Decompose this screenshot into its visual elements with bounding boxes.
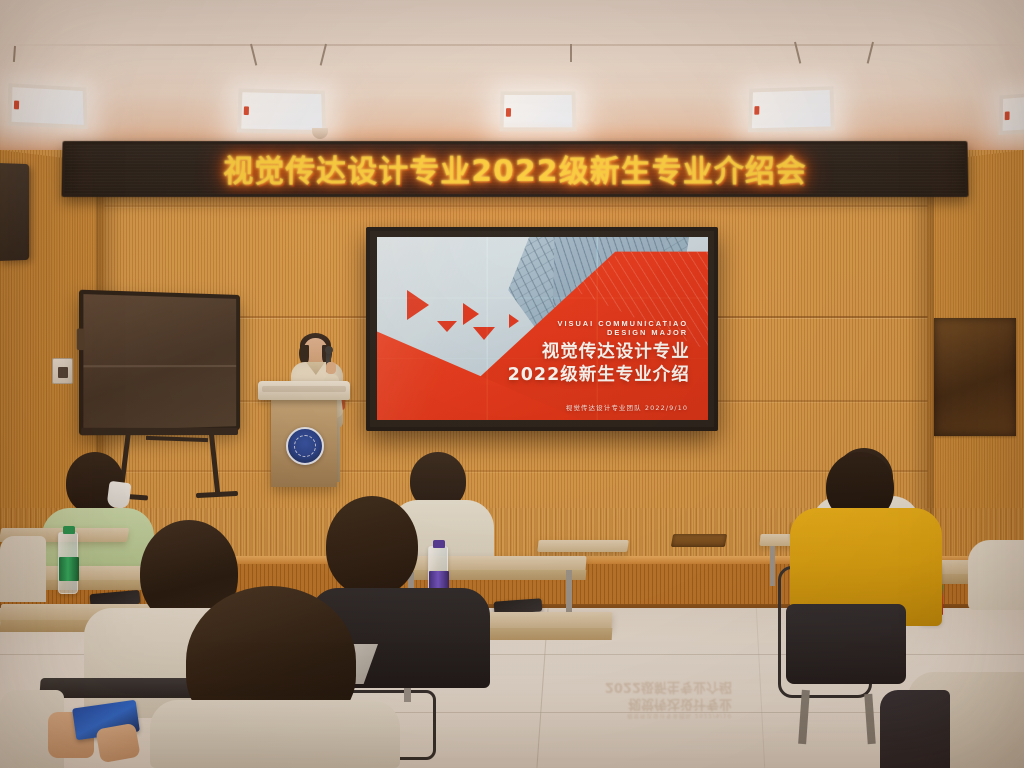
floor-outlet-panel <box>671 534 727 547</box>
triangle-motif-icon <box>509 314 519 328</box>
triangle-motif-icon <box>407 290 429 320</box>
reflection-line1: 视觉传达设计专业 <box>556 694 732 711</box>
audience-torso <box>968 540 1024 610</box>
wall-panel-seam <box>0 205 1024 207</box>
audience-lower-body <box>786 604 906 684</box>
floor-reflection-text: 视觉传达设计专业团队 2022/9/10 视觉传达设计专业 2022级新生专业介… <box>556 632 732 718</box>
triangle-motif-icon <box>437 321 457 332</box>
ceiling-light-panel <box>999 91 1024 135</box>
podium-lectern-top <box>258 381 350 400</box>
slide-english-line2: DESIGN MAJOR <box>558 328 689 337</box>
slide-english-line1: VISUAI COMMUNICATIAO <box>558 319 689 328</box>
tv-handle <box>77 328 85 350</box>
reflection-line2: 2022级新生专业介绍 <box>556 677 732 694</box>
ceiling <box>0 0 1024 152</box>
audience-torso <box>150 700 400 768</box>
wall-window <box>934 318 1016 436</box>
ceiling-light-panel <box>7 83 87 129</box>
desk <box>537 540 629 552</box>
presentation-slide: VISUAI COMMUNICATIAO DESIGN MAJOR 视觉传达设计… <box>377 237 708 420</box>
wall-switch-plate[interactable] <box>52 358 73 384</box>
ceiling-hook-icon <box>570 44 572 62</box>
ceiling-hook-icon <box>320 44 327 66</box>
floor-tile-seam <box>756 608 765 768</box>
ceiling-hook-icon <box>250 44 257 66</box>
ceiling-seam-lower <box>0 138 1024 140</box>
tv-display[interactable] <box>79 290 240 436</box>
led-banner: 视觉传达设计专业2022级新生专业介绍会 <box>61 141 968 197</box>
triangle-motif-icon <box>473 327 495 340</box>
audience-bag <box>880 690 950 768</box>
slide-english-subtitle: VISUAI COMMUNICATIAO DESIGN MAJOR <box>558 319 689 337</box>
slide-credit-line: 视觉传达设计专业团队 2022/9/10 <box>566 402 688 412</box>
audience-hand <box>95 723 140 763</box>
water-bottle <box>58 532 78 594</box>
audience-head <box>326 496 418 596</box>
podium-emblem <box>286 427 324 465</box>
ceiling-light-panel <box>748 86 835 132</box>
tv-stand-bar <box>81 428 238 435</box>
bottle-cap <box>433 540 445 548</box>
desk-front <box>398 570 587 580</box>
bottle-label <box>59 557 79 581</box>
bottle-cap <box>63 526 75 534</box>
slide-title: 视觉传达设计专业 2022级新生专业介绍 <box>508 341 690 386</box>
desk-leg <box>770 546 775 586</box>
wall-speaker <box>0 163 29 261</box>
video-wall-screen[interactable]: VISUAI COMMUNICATIAO DESIGN MAJOR 视觉传达设计… <box>366 227 718 431</box>
slide-title-line2: 2022级新生专业介绍 <box>508 364 690 386</box>
ceiling-light-panel <box>499 91 576 131</box>
led-banner-text: 视觉传达设计专业2022级新生专业介绍会 <box>223 146 807 190</box>
audience-torso <box>0 536 46 602</box>
triangle-motif-icon <box>463 303 479 325</box>
lecture-hall-photo: 视觉传达设计专业2022级新生专业介绍会 VISUAI COMMUNICATIA… <box>0 0 1024 768</box>
slide-title-line1: 视觉传达设计专业 <box>508 341 690 363</box>
reflection-small-text: 视觉传达设计专业团队 2022/9/10 <box>556 711 732 718</box>
ceiling-hook-icon <box>13 46 16 62</box>
speaker-hand <box>326 362 336 374</box>
